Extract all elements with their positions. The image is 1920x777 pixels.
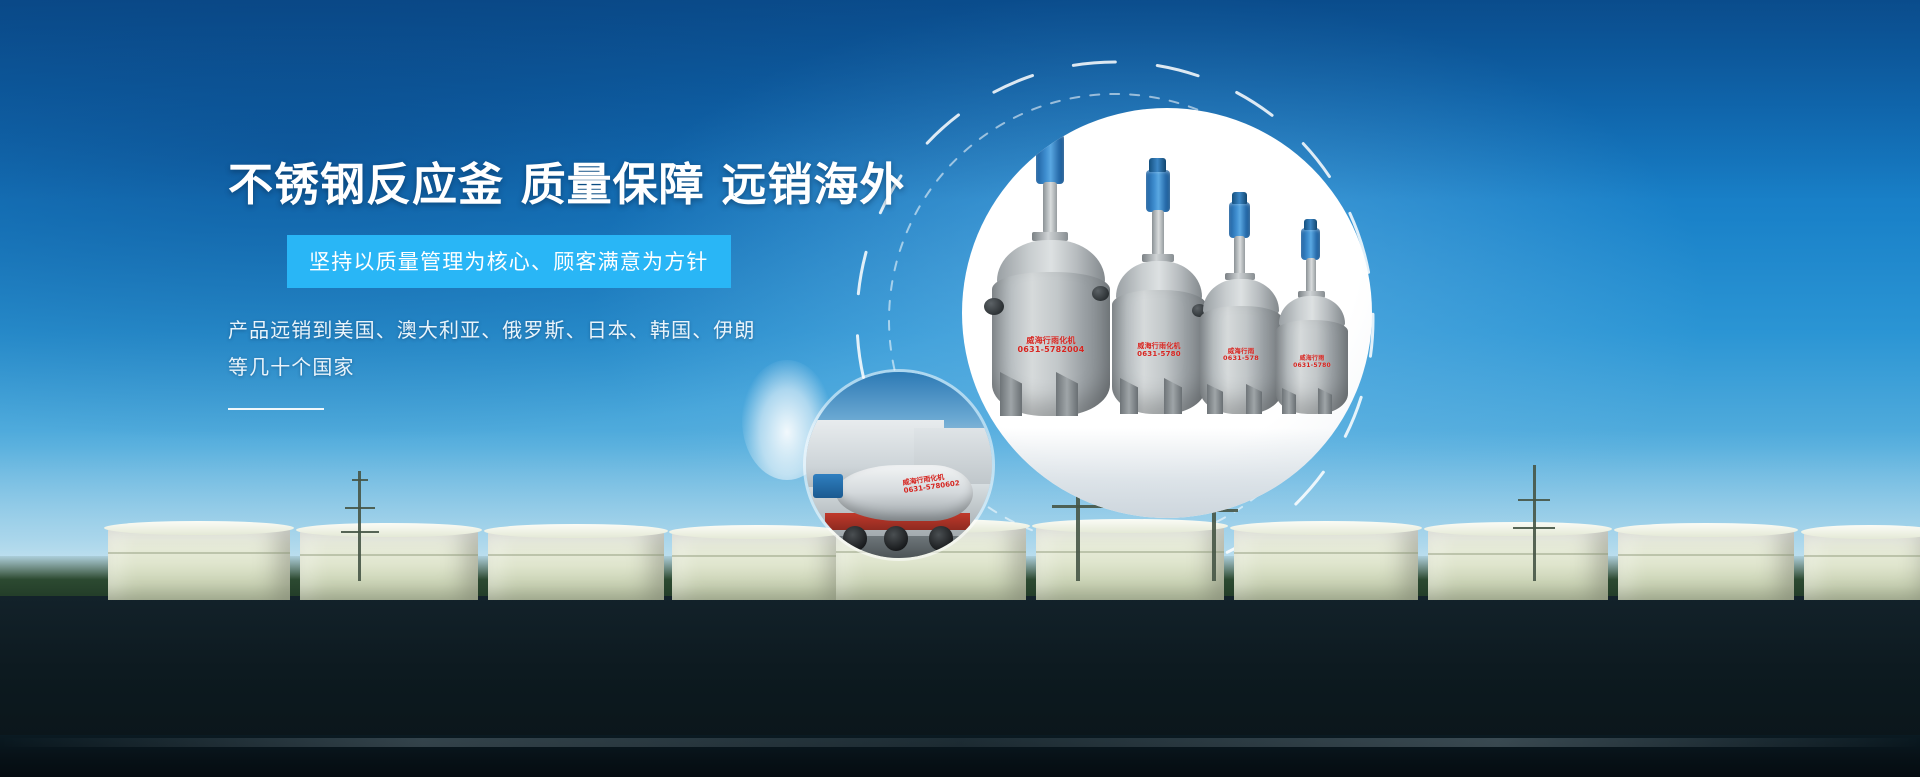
banner-subtitle-bar: 坚持以质量管理为核心、顾客满意为方针 bbox=[287, 235, 731, 288]
storage-tank bbox=[1804, 532, 1920, 600]
reactor-label-line-2: 0631-578 bbox=[1204, 355, 1278, 362]
product-floor-shadow bbox=[962, 428, 1372, 518]
storage-tank bbox=[1234, 528, 1418, 600]
power-pylon bbox=[1512, 465, 1558, 581]
reactor-label-line-2: 0631-5780 bbox=[1118, 350, 1200, 358]
reactor-shaft bbox=[1152, 210, 1164, 256]
reactor-label-line-1: 威海行雨化机 bbox=[1118, 342, 1200, 350]
reactor-brand-label: 威海行雨化机 0631-5782004 bbox=[1002, 336, 1100, 354]
reactor-brand-label: 威海行雨化机 0631-5780 bbox=[1118, 342, 1200, 358]
reactor-side-port bbox=[984, 298, 1004, 315]
reactor-motor bbox=[1229, 202, 1250, 238]
photo-wheel bbox=[843, 526, 867, 550]
reactor-motor bbox=[1036, 134, 1064, 184]
reactor-label-line-1: 威海行雨化机 bbox=[1002, 336, 1100, 345]
banner-subtitle-text: 坚持以质量管理为核心、顾客满意为方针 bbox=[309, 250, 709, 274]
reactor-motor bbox=[1146, 170, 1170, 212]
photo-wheel bbox=[929, 526, 953, 550]
reactor-motor-cap bbox=[1040, 120, 1060, 136]
banner-description: 产品远销到美国、澳大利亚、俄罗斯、日本、韩国、伊朗 等几十个国家 bbox=[228, 312, 868, 386]
reactor-shaft bbox=[1234, 236, 1245, 276]
banner-copy-block: 不锈钢反应釜 质量保障 远销海外 坚持以质量管理为核心、顾客满意为方针 产品远销… bbox=[228, 160, 868, 410]
water-reflection bbox=[0, 738, 1920, 747]
reactor-vessel: 威海行雨化机 0631-5780 bbox=[1112, 248, 1206, 414]
reactor-label-line-2: 0631-5782004 bbox=[1002, 345, 1100, 354]
storage-tank bbox=[1618, 530, 1794, 600]
reactor-side-port bbox=[1092, 286, 1109, 301]
reactor-vessel: 威海行雨 0631-578 bbox=[1200, 268, 1282, 414]
storage-tank bbox=[108, 528, 290, 600]
storage-tank bbox=[488, 531, 664, 600]
hero-banner: 威海行雨化机 0631-5780602 威海行雨化机 0631-5782004 bbox=[0, 0, 1920, 777]
reactor-motor-cap bbox=[1232, 192, 1247, 204]
reactor-vessel: 威海行雨化机 0631-5782004 bbox=[992, 226, 1110, 416]
reactor-motor bbox=[1301, 228, 1320, 260]
storage-tank bbox=[300, 530, 478, 600]
reactor-vessel: 威海行雨 0631-5780 bbox=[1276, 286, 1348, 414]
power-pylon bbox=[338, 471, 382, 581]
copy-divider bbox=[228, 408, 324, 410]
reactor-brand-label: 威海行雨 0631-5780 bbox=[1279, 356, 1345, 370]
banner-headline: 不锈钢反应釜 质量保障 远销海外 bbox=[228, 160, 868, 210]
reactor-shaft bbox=[1043, 182, 1057, 234]
reactor-brand-label: 威海行雨 0631-578 bbox=[1204, 348, 1278, 363]
photo-vessel-motor bbox=[813, 474, 843, 498]
description-line-2: 等几十个国家 bbox=[228, 349, 868, 386]
reactor-label-line-2: 0631-5780 bbox=[1279, 363, 1345, 370]
description-line-1: 产品远销到美国、澳大利亚、俄罗斯、日本、韩国、伊朗 bbox=[228, 312, 868, 349]
photo-wheel bbox=[884, 526, 908, 550]
reactor-motor-cap bbox=[1149, 158, 1166, 172]
reactor-motor-cap bbox=[1304, 219, 1317, 230]
reactor-shaft bbox=[1306, 258, 1316, 294]
product-photo-circle: 威海行雨化机 0631-5782004 威海行雨化机 0631-5780 bbox=[962, 108, 1372, 518]
